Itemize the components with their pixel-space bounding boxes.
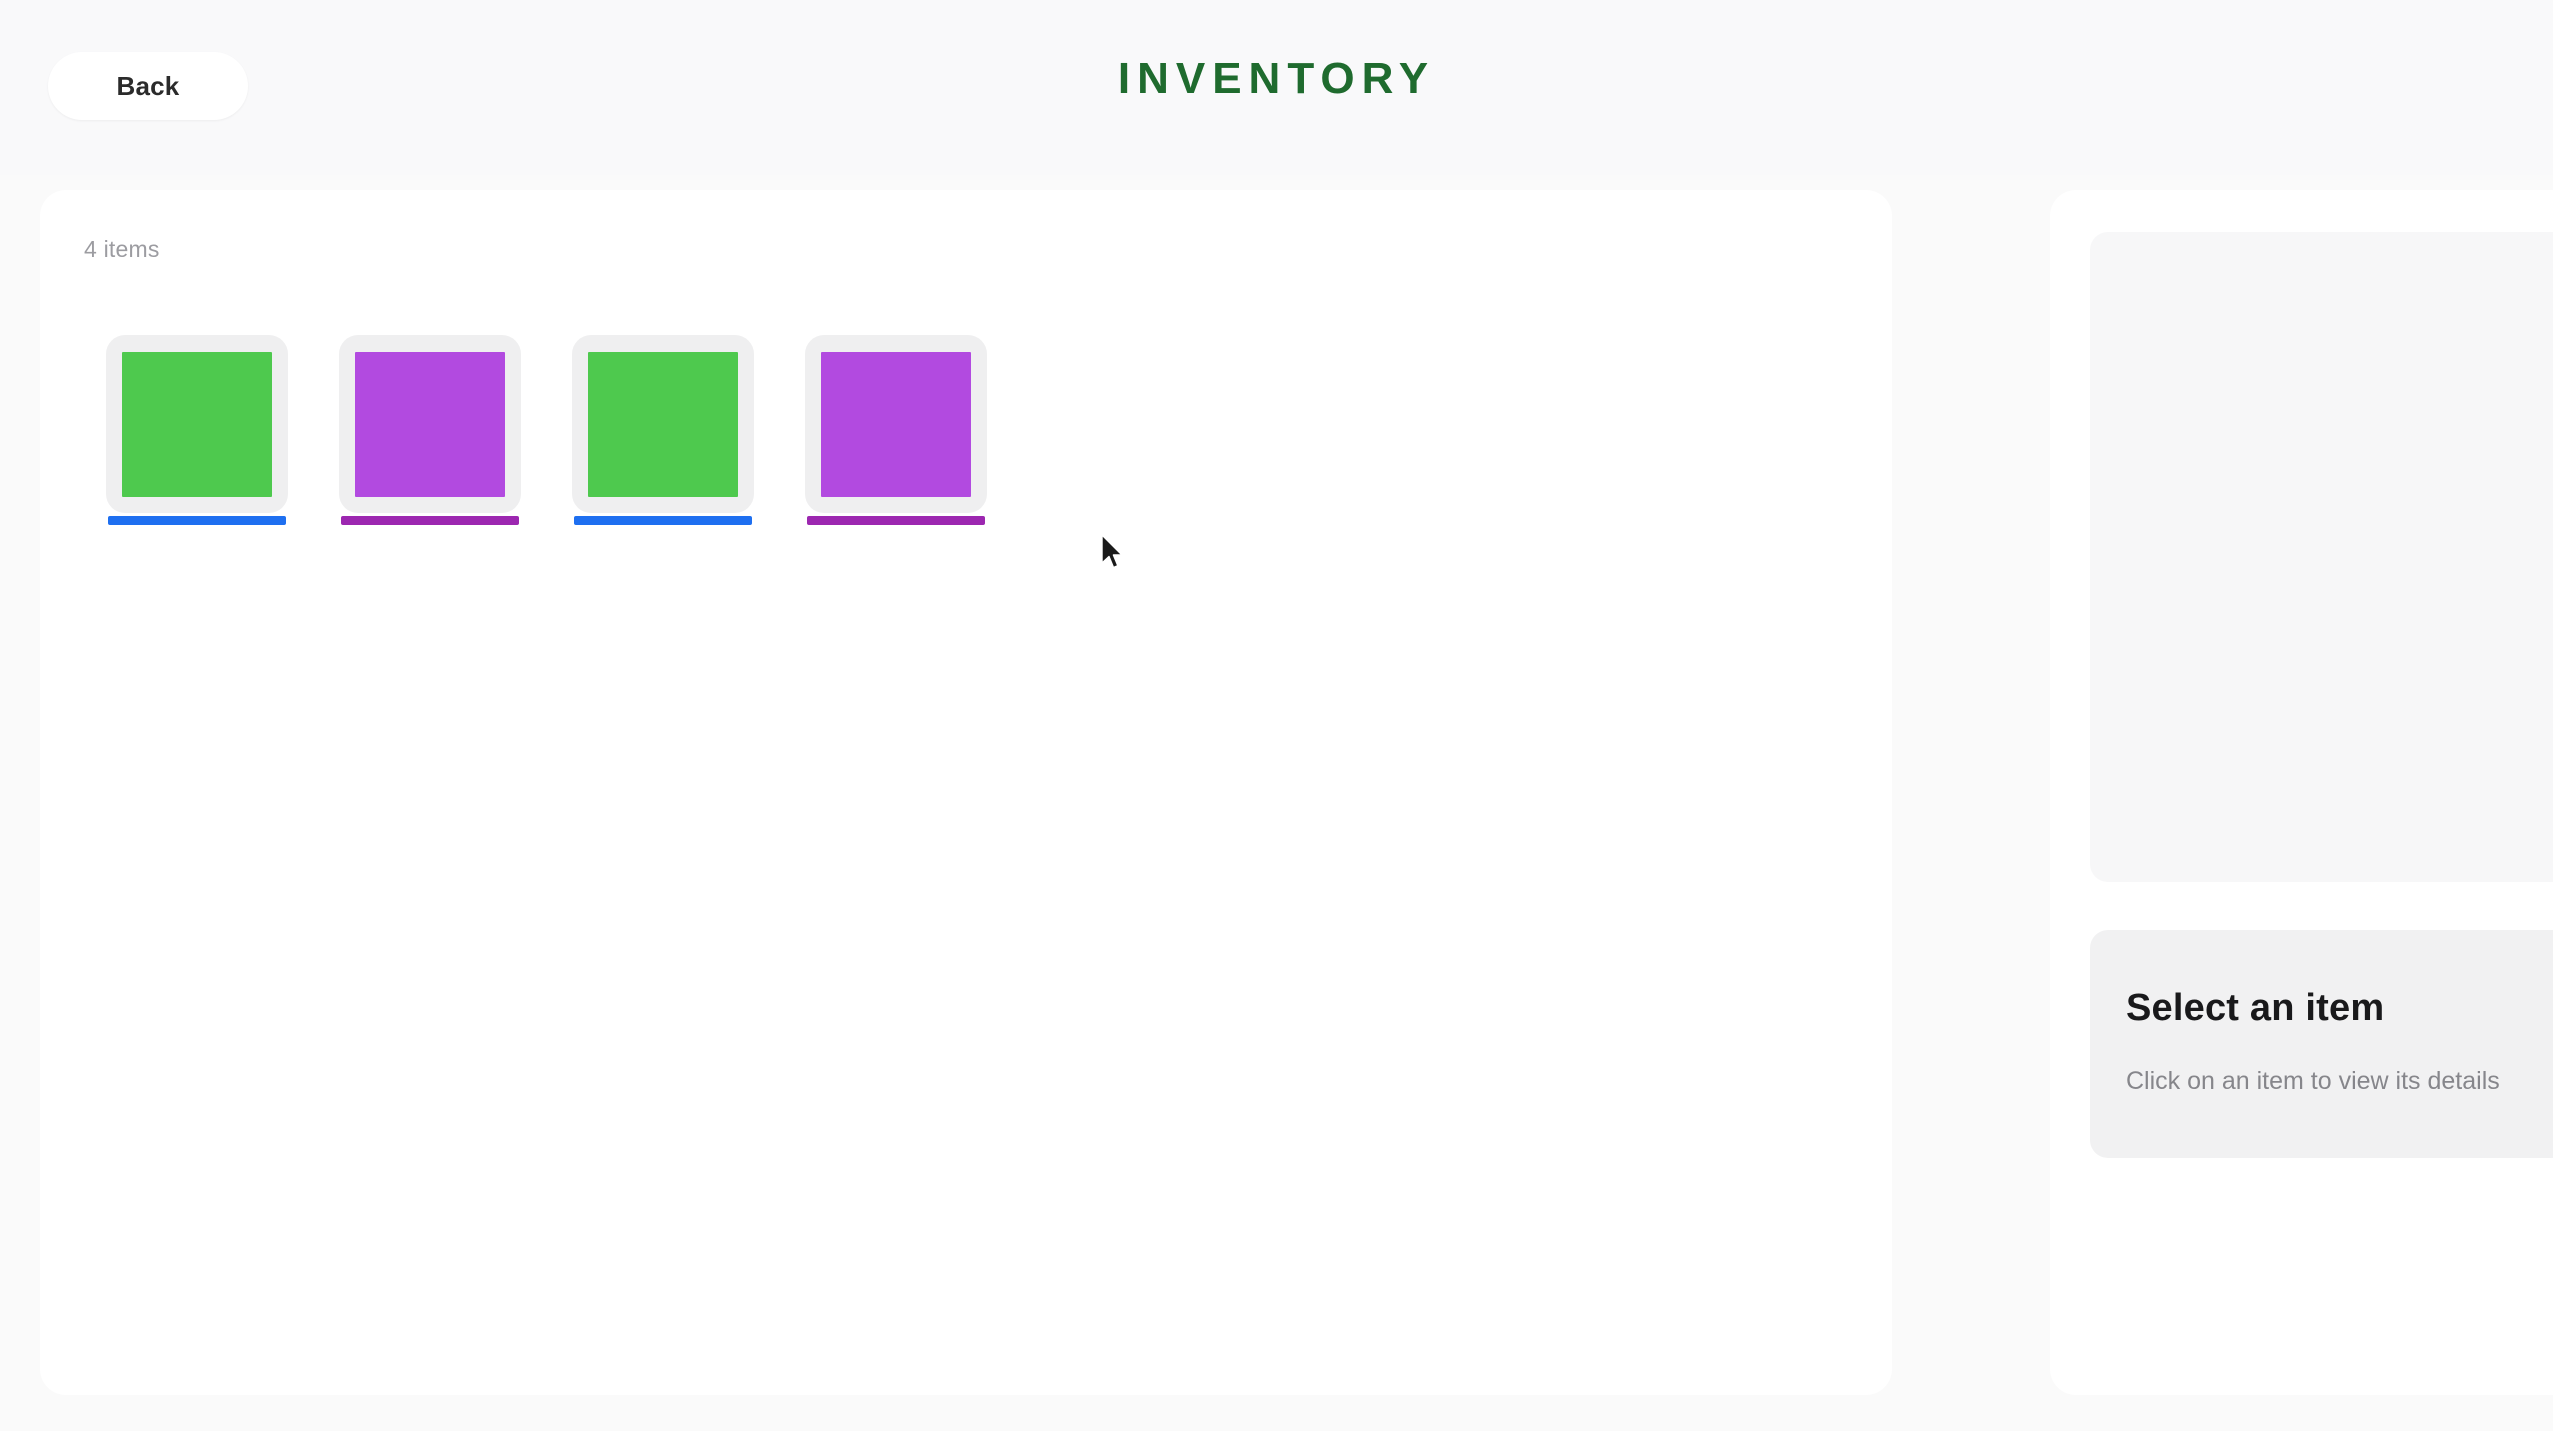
item-accent-bar — [574, 516, 752, 525]
item-color-swatch — [355, 352, 505, 497]
item-tile-frame — [339, 335, 521, 513]
item-accent-bar — [108, 516, 286, 525]
item-tile-frame — [805, 335, 987, 513]
item-tile[interactable] — [805, 335, 987, 525]
item-grid — [106, 335, 987, 525]
app-header: Back INVENTORY — [0, 0, 2553, 175]
item-color-swatch — [588, 352, 738, 497]
select-item-card: Select an item Click on an item to view … — [2090, 930, 2553, 1158]
item-tile[interactable] — [572, 335, 754, 525]
item-tile[interactable] — [339, 335, 521, 525]
item-preview-box — [2090, 232, 2553, 882]
item-tile-frame — [572, 335, 754, 513]
item-accent-bar — [807, 516, 985, 525]
page-title: INVENTORY — [0, 52, 2553, 106]
select-item-title: Select an item — [2126, 987, 2384, 1030]
item-detail-panel: Select an item Click on an item to view … — [2050, 190, 2553, 1395]
item-accent-bar — [341, 516, 519, 525]
inventory-list-panel: 4 items — [40, 190, 1892, 1395]
item-color-swatch — [122, 352, 272, 497]
item-count-label: 4 items — [84, 236, 160, 263]
item-color-swatch — [821, 352, 971, 497]
select-item-subtitle: Click on an item to view its details — [2126, 1067, 2500, 1096]
item-tile[interactable] — [106, 335, 288, 525]
item-tile-frame — [106, 335, 288, 513]
